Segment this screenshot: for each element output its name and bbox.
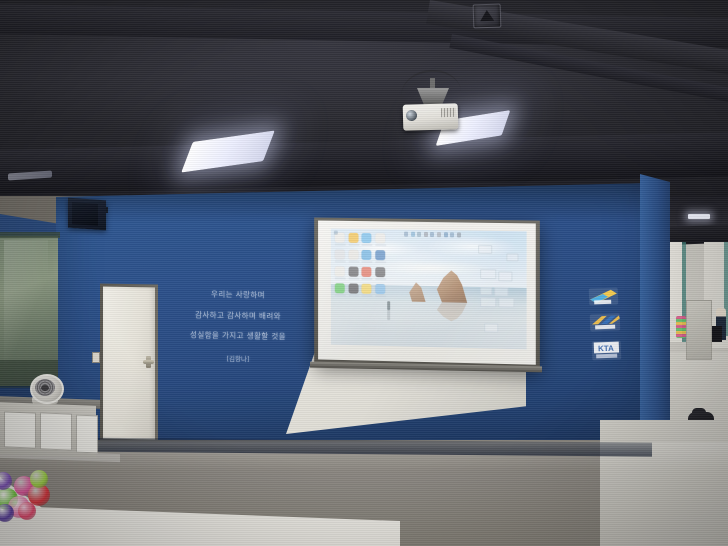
desktop-icon-10[interactable] [348, 267, 359, 281]
partition-reflection [4, 240, 48, 370]
desktop-icon-14-label [348, 294, 359, 297]
back-room-ceiling [660, 196, 728, 228]
taskbar-icon-3[interactable] [417, 232, 421, 237]
desktop-icon-5-label [335, 260, 346, 263]
projected-desktop[interactable] [331, 229, 527, 350]
taskbar-icon-9[interactable] [457, 232, 461, 237]
desktop-icon-5-glyph [335, 249, 345, 259]
logo-badge-top [589, 287, 619, 305]
desktop-icon-9-label [335, 277, 346, 280]
speaker-grille-icon [72, 202, 98, 226]
desktop-icon-7[interactable] [361, 250, 372, 264]
taskbar-icon-8[interactable] [450, 232, 454, 237]
desktop-icon-6[interactable] [348, 250, 359, 264]
logo-badge-middle [590, 313, 621, 331]
desktop-icon-4-glyph [375, 233, 385, 243]
desktop-icon-13-glyph [335, 283, 345, 293]
taskbar-icon-4[interactable] [424, 232, 428, 237]
cabinet-door-2[interactable] [40, 412, 72, 450]
desktop-shortcut-right-2[interactable] [480, 269, 496, 279]
desktop-icon-12-glyph [375, 267, 385, 277]
desktop-shortcut-right-9[interactable] [506, 253, 518, 261]
taskbar-icon-row[interactable] [404, 232, 461, 237]
desktop-icon-2-label [348, 243, 359, 246]
desktop-icon-2-glyph [348, 233, 358, 243]
desktop-icon-13-label [335, 294, 346, 297]
desktop-icon-11-label [361, 277, 372, 280]
desktop-shortcut-right-7[interactable] [498, 297, 514, 307]
desktop-icon-16-label [375, 294, 386, 297]
desktop-icon-8-label [375, 261, 386, 264]
desktop-icon-16[interactable] [375, 284, 386, 298]
desktop-icon-11-glyph [361, 267, 371, 277]
desktop-icon-7-glyph [361, 250, 371, 260]
desktop-icon-9-glyph [335, 266, 345, 276]
floor-back-room-area [600, 420, 728, 546]
desktop-icon-6-label [348, 260, 359, 263]
ball-3 [0, 472, 12, 490]
desktop-icon-15-glyph [361, 284, 371, 294]
wall-light-switch[interactable] [92, 352, 100, 363]
desktop-shortcut-right-1[interactable] [478, 245, 492, 254]
taskbar-icon-2[interactable] [411, 232, 415, 237]
desktop-icon-14-glyph [348, 283, 358, 293]
desktop-icon-12[interactable] [375, 267, 386, 281]
desktop-icon-16-glyph [375, 284, 385, 294]
desktop-icon-3[interactable] [361, 233, 372, 247]
desktop-icon-3-glyph [361, 233, 371, 243]
desktop-shortcut-right-8[interactable] [484, 323, 498, 332]
desktop-icon-12-label [375, 278, 386, 281]
start-button-icon[interactable] [334, 231, 338, 235]
desktop-icon-15-label [361, 294, 372, 297]
desktop-icon-8-glyph [375, 250, 385, 260]
taskbar-icon-1[interactable] [404, 232, 408, 237]
desktop-icon-14[interactable] [348, 283, 359, 297]
wall-motto: 우리는 사랑하며 감사하고 감사하며 배려와 성실함을 가지고 생활할 것을 [… [178, 290, 298, 364]
colored-equipment-rack [676, 316, 686, 338]
desktop-shortcut-right-3[interactable] [498, 271, 512, 281]
motto-line-3: 성실함을 가지고 생활할 것을 [178, 331, 298, 341]
cabinet-door-3[interactable] [76, 415, 98, 454]
desktop-shortcut-right-4[interactable] [480, 287, 492, 295]
taskbar-icon-5[interactable] [430, 232, 434, 237]
desktop-icon-1[interactable] [335, 233, 346, 247]
logo-badge-bottom: KTA [592, 340, 622, 360]
back-room-cabinet [686, 300, 712, 360]
desktop-icon-9[interactable] [335, 266, 346, 280]
door-lever-handle-icon[interactable] [143, 360, 154, 364]
partition-frame [0, 232, 60, 238]
ball-8 [18, 502, 36, 520]
desktop-icon-4[interactable] [375, 233, 386, 247]
motto-line-1: 우리는 사랑하며 [178, 290, 298, 300]
cabinet-door-1[interactable] [4, 411, 36, 448]
desktop-icon-7-label [361, 260, 372, 263]
desktop-icon-8[interactable] [375, 250, 386, 264]
desktop-icon-1-label [335, 243, 346, 246]
taskbar-icon-7[interactable] [444, 232, 448, 237]
desktop-icon-2[interactable] [348, 233, 359, 247]
taskbar-icon-6[interactable] [437, 232, 441, 237]
ceiling-vent-icon [473, 4, 502, 29]
desktop-icon-5[interactable] [335, 249, 346, 263]
desktop-shortcut-right-6[interactable] [480, 297, 496, 307]
back-room-light [688, 214, 710, 219]
ball-basket [0, 470, 58, 516]
desktop-icon-4-label [375, 244, 386, 247]
ball-6 [30, 470, 48, 488]
fan-hub-icon [41, 385, 49, 391]
motto-signature: [김항나] [178, 351, 298, 363]
projector-vent-icon [441, 108, 456, 117]
desktop-icon-6-glyph [348, 250, 358, 260]
desktop-icon-10-label [348, 277, 359, 280]
room-photo-scene: 우리는 사랑하며 감사하고 감사하며 배려와 성실함을 가지고 생활할 것을 [… [0, 0, 728, 546]
desktop-icon-15[interactable] [361, 284, 372, 298]
desktop-icon-13[interactable] [335, 283, 346, 297]
desktop-shortcut-right-5[interactable] [494, 287, 508, 296]
desktop-icon-10-glyph [348, 267, 358, 277]
motto-line-2: 감사하고 감사하며 배려와 [178, 310, 298, 320]
desktop-icon-3-label [361, 243, 372, 246]
desktop-icon-11[interactable] [361, 267, 372, 281]
